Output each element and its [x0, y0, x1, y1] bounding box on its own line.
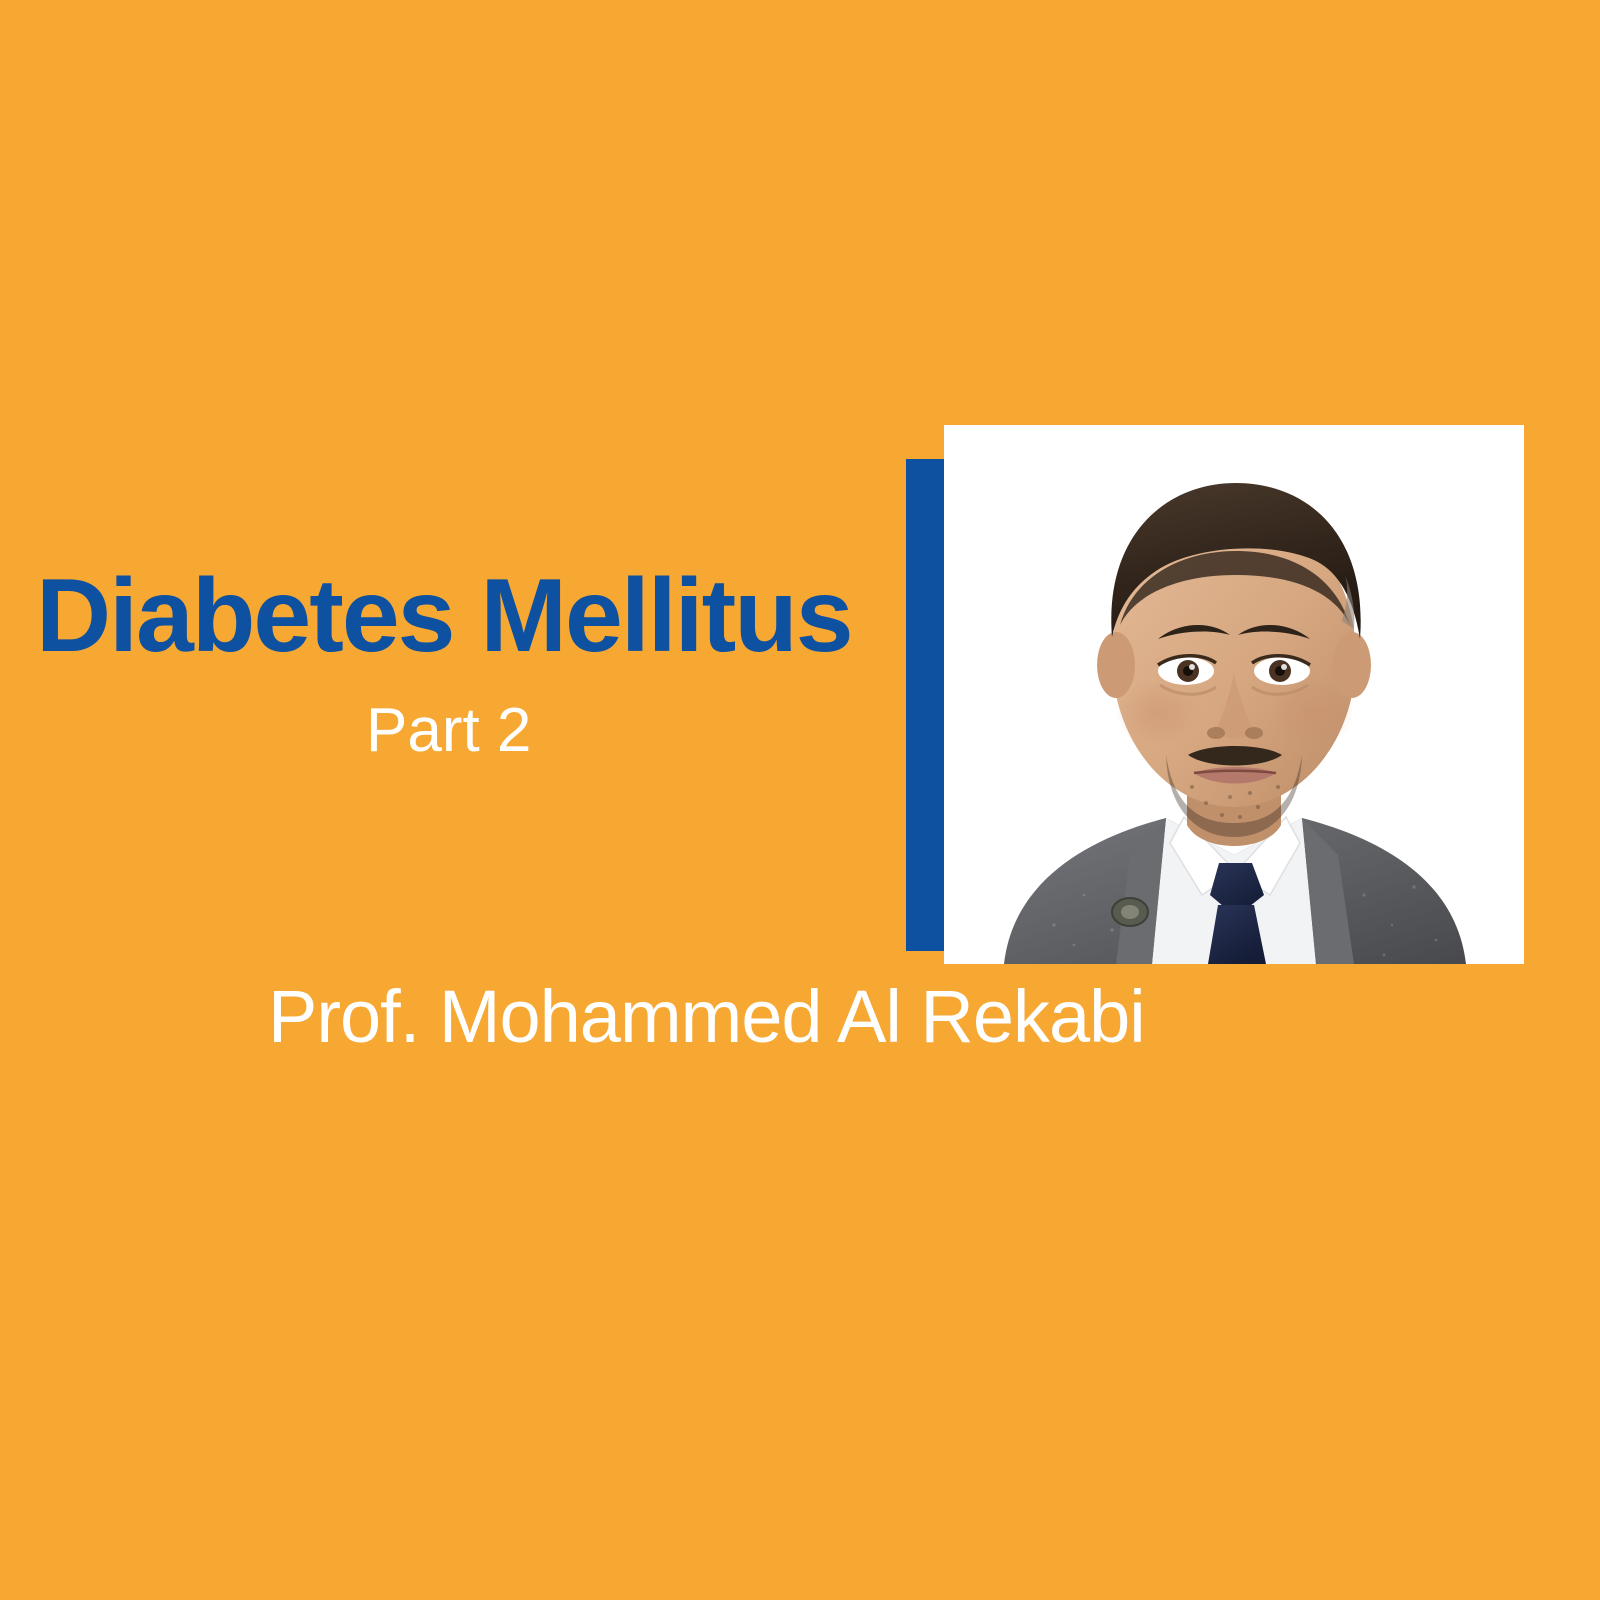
title-slide: Diabetes Mellitus Part 2 Prof. Mohammed … [0, 0, 1600, 1600]
subtitle: Part 2 [366, 700, 531, 762]
presenter-name: Prof. Mohammed Al Rekabi [268, 980, 1145, 1054]
page-title: Diabetes Mellitus [36, 564, 852, 668]
portrait-photo [944, 425, 1524, 964]
portrait-illustration [944, 425, 1524, 964]
